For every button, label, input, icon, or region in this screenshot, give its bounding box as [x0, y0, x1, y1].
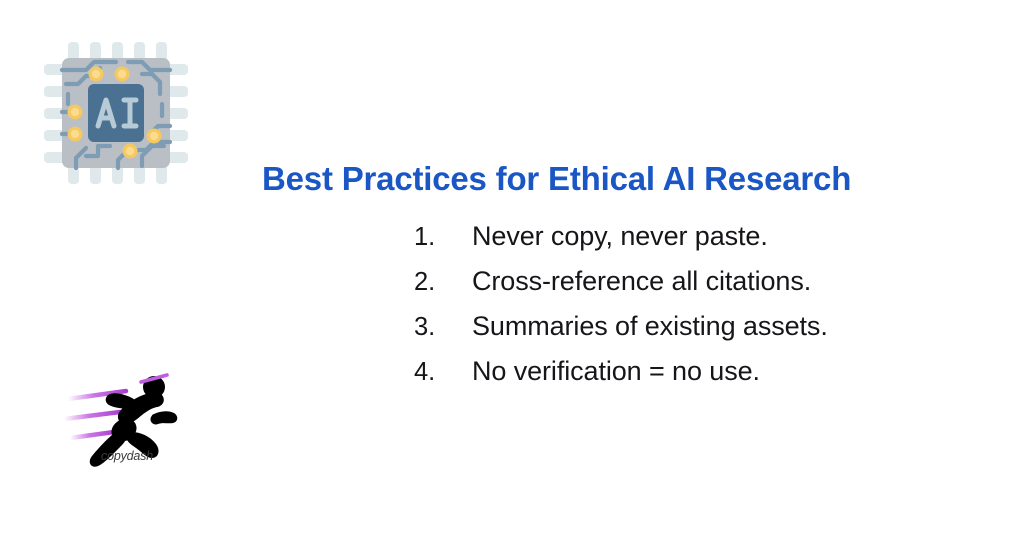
page-title: Best Practices for Ethical AI Research	[262, 160, 963, 200]
list-item-label: Never copy, never paste.	[472, 214, 1014, 259]
slide-canvas: Best Practices for Ethical AI Research 1…	[0, 0, 1024, 535]
copydash-wordmark: copydash	[62, 449, 192, 463]
list-item: 3. Summaries of existing assets.	[414, 304, 1014, 349]
practice-list: 1. Never copy, never paste. 2. Cross-ref…	[374, 214, 1014, 394]
list-item: 2. Cross-reference all citations.	[414, 259, 1014, 304]
ai-chip-icon	[42, 38, 188, 188]
chip-core	[88, 84, 144, 142]
list-item: 4. No verification = no use.	[414, 349, 1014, 394]
list-item: 1. Never copy, never paste.	[414, 214, 1014, 259]
list-item-label: Cross-reference all citations.	[472, 259, 1014, 304]
list-item-number: 4.	[414, 350, 472, 395]
list-item-number: 2.	[414, 260, 472, 305]
list-item-number: 3.	[414, 305, 472, 350]
list-item-number: 1.	[414, 215, 472, 260]
list-item-label: No verification = no use.	[472, 349, 1014, 394]
list-item-label: Summaries of existing assets.	[472, 304, 1014, 349]
